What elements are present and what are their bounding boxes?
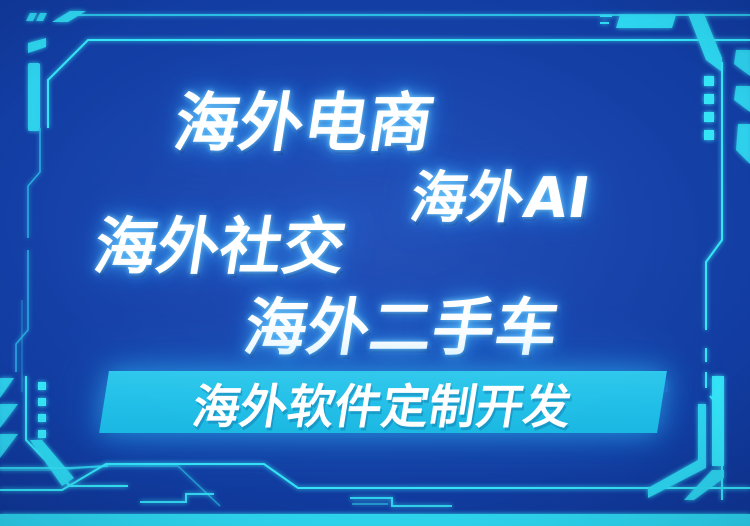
right-rail-dots <box>704 76 714 140</box>
cta-banner-label: 海外软件定制开发 <box>99 371 667 433</box>
tech-promo-poster: 海外电商 海外AI 海外社交 海外二手车 海外软件定制开发 <box>0 0 750 526</box>
cta-banner: 海外软件定制开发 <box>104 371 662 433</box>
decorative-frame <box>0 0 750 526</box>
top-left-corner-bracket <box>26 11 750 131</box>
left-circuit-rail <box>16 128 40 392</box>
bottom-edge-strip <box>0 514 750 526</box>
